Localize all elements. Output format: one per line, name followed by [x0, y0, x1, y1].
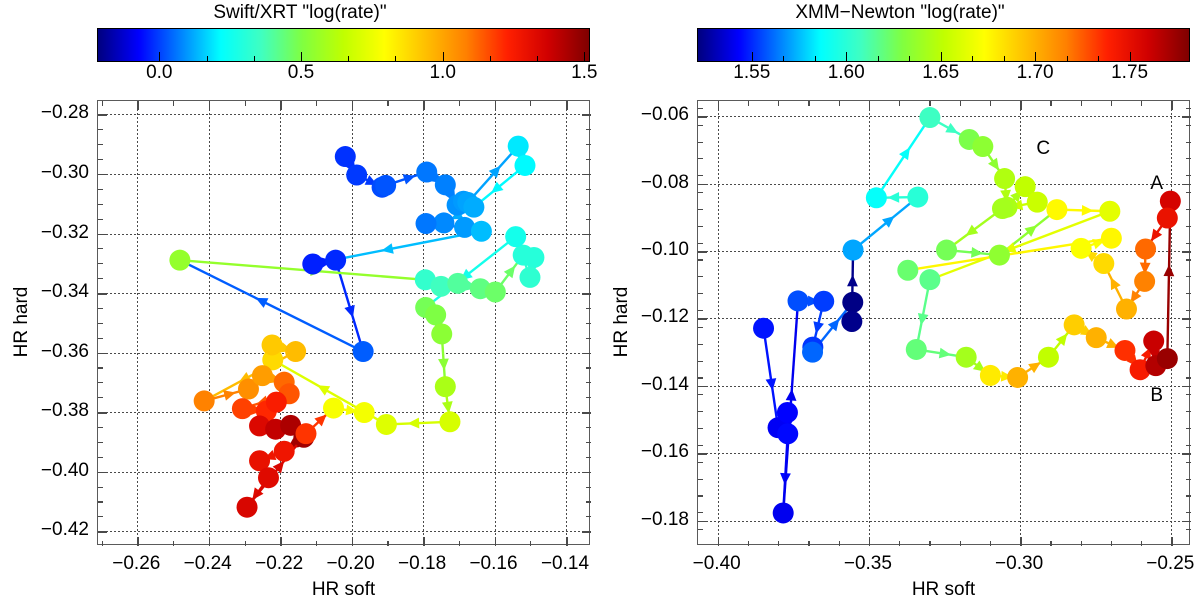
data-point [285, 341, 306, 362]
data-point [980, 365, 1001, 386]
data-point [519, 267, 540, 288]
data-point [1093, 253, 1114, 274]
data-point [258, 467, 279, 488]
data-point [302, 254, 323, 275]
data-point [773, 502, 794, 523]
track-arrowhead [1082, 205, 1094, 216]
data-point [936, 240, 957, 261]
data-point [431, 323, 452, 344]
data-point [416, 213, 437, 234]
data-point [262, 334, 283, 355]
data-point [323, 398, 344, 419]
track-arrowhead [966, 225, 979, 236]
track-arrowhead [813, 321, 824, 334]
track-arrowhead [766, 378, 777, 390]
data-point [842, 292, 863, 313]
annotation-label-A: A [1150, 173, 1163, 195]
track-arrowhead [344, 305, 354, 318]
data-point [906, 339, 927, 360]
panel-right: XMM−Newton "log(rate)"1.551.601.651.701.… [600, 0, 1200, 601]
data-point [788, 290, 809, 311]
track-arrowhead [988, 158, 999, 171]
scatter-layer-left [0, 0, 600, 601]
figure-root: Swift/XRT "log(rate)"0.00.51.01.5−0.26−0… [0, 0, 1200, 601]
scatter-layer-right [600, 0, 1200, 601]
data-point [416, 162, 437, 183]
data-point [354, 402, 375, 423]
data-point [956, 347, 977, 368]
track-arrowhead [438, 358, 449, 370]
data-point [866, 187, 887, 208]
data-point [989, 245, 1010, 266]
data-point [1086, 327, 1107, 348]
data-point [1064, 314, 1085, 335]
data-point [325, 250, 346, 271]
data-point [919, 269, 940, 290]
data-point [169, 250, 190, 271]
data-point [463, 197, 484, 218]
data-point [471, 221, 492, 242]
data-point [266, 392, 287, 413]
data-point [1157, 207, 1178, 228]
data-point [433, 212, 454, 233]
data-point [346, 165, 367, 186]
data-point [353, 341, 374, 362]
data-point [777, 423, 798, 444]
data-point [1038, 347, 1059, 368]
track-arrowhead [403, 174, 416, 184]
data-point [375, 175, 396, 196]
track-arrowhead [847, 275, 858, 287]
panel-left: Swift/XRT "log(rate)"0.00.51.01.5−0.26−0… [0, 0, 600, 601]
track-arrowhead [1164, 264, 1175, 276]
data-point [753, 318, 774, 339]
track-arrowhead [939, 348, 951, 359]
data-point [435, 174, 456, 195]
track-arrowhead [504, 266, 515, 279]
annotation-label-C: C [1036, 138, 1050, 160]
data-point [1135, 239, 1156, 260]
data-point [485, 281, 506, 302]
track-segment [876, 118, 930, 198]
data-point [435, 376, 456, 397]
data-point [897, 260, 918, 281]
data-point [994, 168, 1015, 189]
track-arrowhead [888, 192, 900, 203]
data-point [252, 365, 273, 386]
track-arrowhead [1028, 362, 1041, 373]
track-arrowhead [381, 243, 393, 254]
data-point [841, 311, 862, 332]
track-segment [764, 328, 779, 427]
data-point [802, 342, 823, 363]
data-point [843, 240, 864, 261]
data-point [777, 402, 798, 423]
data-point [1114, 340, 1135, 361]
data-point [1134, 271, 1155, 292]
track-arrowhead [786, 389, 797, 401]
data-point [813, 291, 834, 312]
data-point [447, 273, 468, 294]
data-point [1007, 367, 1028, 388]
data-point [194, 390, 215, 411]
data-point [425, 304, 446, 325]
track-segment [853, 197, 918, 250]
data-point [514, 155, 535, 176]
data-point [1099, 201, 1120, 222]
data-point [1071, 238, 1092, 259]
data-point [508, 136, 529, 157]
data-point [919, 107, 940, 128]
data-point [1157, 348, 1178, 369]
annotation-label-B: B [1150, 385, 1163, 407]
track-arrowhead [407, 418, 419, 429]
data-point [972, 136, 993, 157]
data-point [907, 187, 928, 208]
data-point [505, 226, 526, 247]
data-point [232, 398, 253, 419]
data-point [1046, 199, 1067, 220]
data-point [439, 411, 460, 432]
track-arrowhead [1151, 229, 1162, 242]
data-point [1143, 331, 1164, 352]
data-point [523, 247, 544, 268]
data-point [237, 497, 258, 518]
track-arrowhead [899, 147, 910, 160]
data-point [1101, 228, 1122, 249]
data-point [1027, 192, 1048, 213]
data-point [295, 423, 316, 444]
data-point [335, 146, 356, 167]
track-arrowhead [918, 313, 929, 325]
data-point [274, 441, 295, 462]
data-point [1116, 299, 1137, 320]
data-point [376, 414, 397, 435]
data-point [992, 198, 1013, 219]
